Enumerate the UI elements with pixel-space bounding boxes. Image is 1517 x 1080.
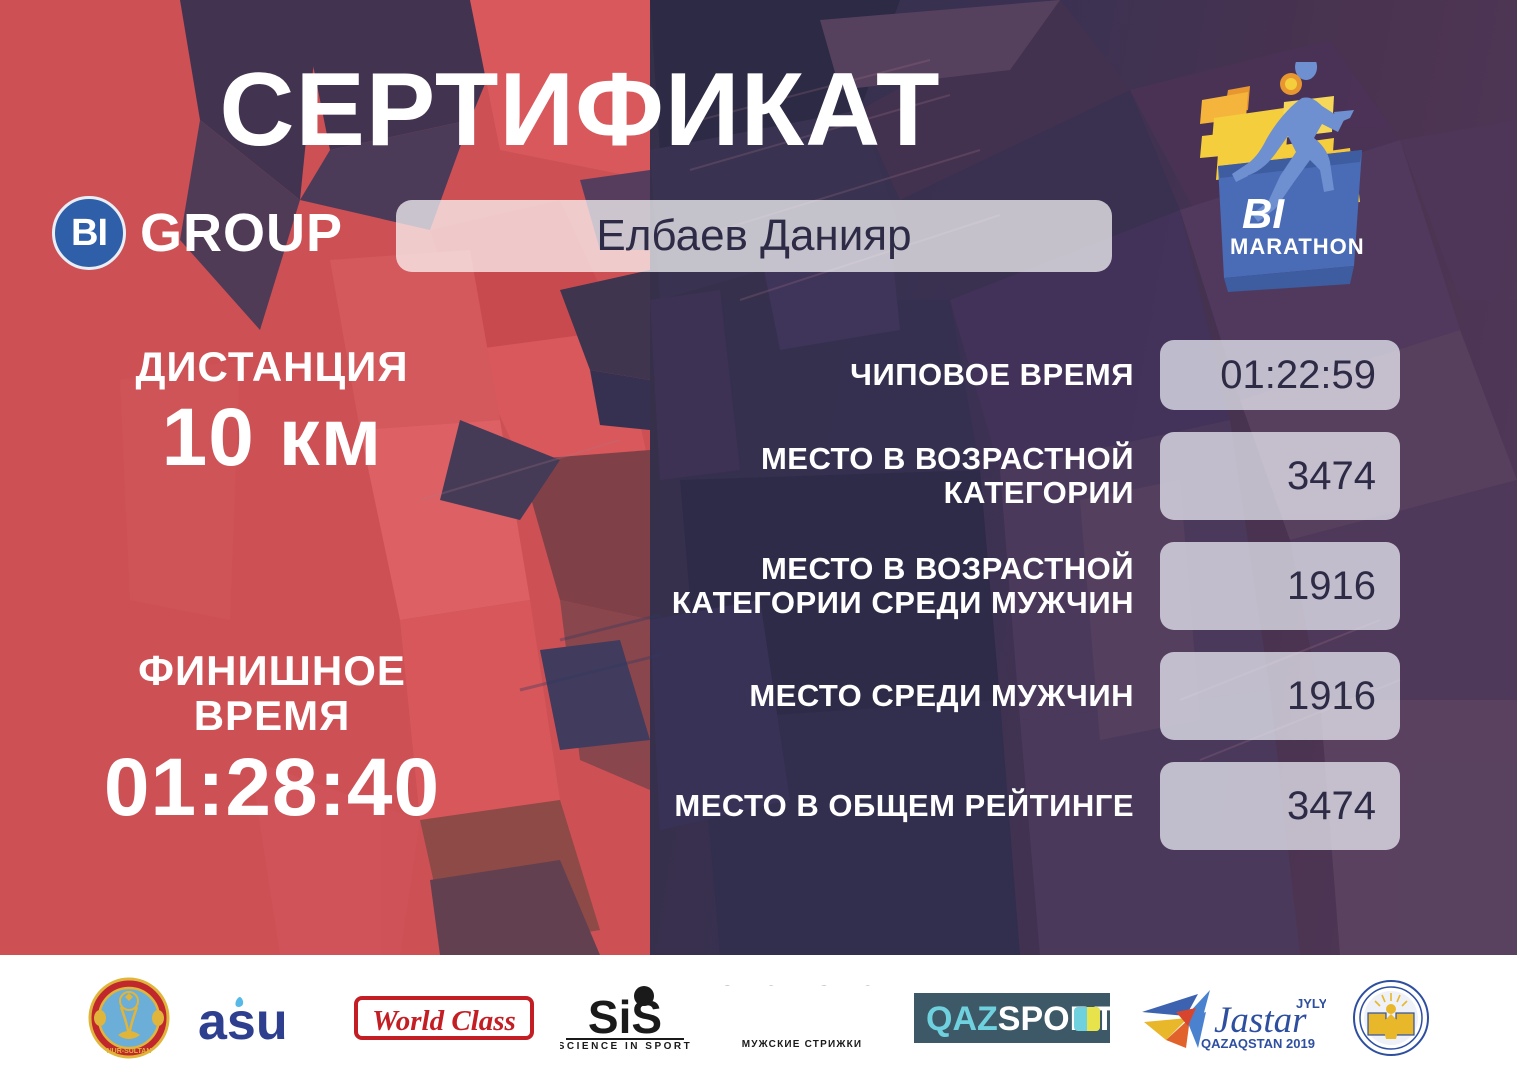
- sponsor-logo-world-class: World Class: [354, 981, 534, 1055]
- participant-name-field: Елбаев Данияр: [396, 200, 1112, 272]
- chop-chop-logo-icon: CHOP-CHOP МУЖСКИЕ СТРИЖКИ: [716, 985, 888, 1051]
- chop-chop-sublabel: МУЖСКИЕ СТРИЖКИ: [741, 1039, 862, 1050]
- asu-label: asu: [198, 993, 288, 1049]
- marathon-logo-word: MARATHON: [1230, 234, 1365, 259]
- stats-list: ЧИПОВОЕ ВРЕМЯ 01:22:59 МЕСТО В ВОЗРАСТНО…: [630, 340, 1400, 850]
- nur-sultan-emblem-icon: NUR-SULTAN: [88, 977, 170, 1059]
- sponsor-logo-sis: SiS SCIENCE IN SPORT: [560, 981, 690, 1055]
- stat-row: ЧИПОВОЕ ВРЕМЯ 01:22:59: [630, 340, 1400, 410]
- sponsor-logo-ministry: [1352, 981, 1430, 1055]
- distance-value: 10 км: [42, 395, 502, 481]
- stat-row: МЕСТО В ОБЩЕМ РЕЙТИНГЕ 3474: [630, 762, 1400, 850]
- stat-label: МЕСТО СРЕДИ МУЖЧИН: [630, 679, 1160, 713]
- stat-label: ЧИПОВОЕ ВРЕМЯ: [630, 358, 1160, 392]
- distance-label: ДИСТАНЦИЯ: [42, 344, 502, 389]
- finish-time-label-line1: ФИНИШНОЕ: [42, 648, 502, 693]
- jastar-sup: JYLY: [1296, 996, 1326, 1011]
- finish-time-value: 01:28:40: [42, 745, 502, 831]
- world-class-logo-icon: World Class: [354, 992, 534, 1044]
- finish-time-block: ФИНИШНОЕ ВРЕМЯ 01:28:40: [42, 648, 502, 831]
- bi-badge-icon: BI: [52, 196, 126, 270]
- jastar-sublabel: QAZAQSTAN 2019: [1201, 1036, 1315, 1051]
- stat-value: 1916: [1160, 542, 1400, 630]
- world-class-label: World Class: [372, 1005, 516, 1037]
- chop-chop-label: CHOP-CHOP: [716, 985, 888, 992]
- jastar-label: Jastar: [1214, 1000, 1307, 1041]
- sponsor-logo-qazsport: QAZSPORT QAZSPORT: [914, 981, 1110, 1055]
- qazsport-logo-icon: QAZSPORT QAZSPORT: [914, 993, 1110, 1043]
- sponsor-strip: NUR-SULTAN asu World Class SiS SCIENCE I…: [0, 955, 1517, 1080]
- stat-value: 01:22:59: [1160, 340, 1400, 410]
- page-title: СЕРТИФИКАТ: [0, 58, 1160, 162]
- sis-logo-icon: SiS SCIENCE IN SPORT: [560, 985, 690, 1051]
- stat-row: МЕСТО В ВОЗРАСТНОЙ КАТЕГОРИИ СРЕДИ МУЖЧИ…: [630, 542, 1400, 630]
- asu-logo-icon: asu: [196, 987, 328, 1049]
- bi-group-word: GROUP: [140, 202, 343, 264]
- sis-label: SiS: [587, 991, 661, 1043]
- bi-marathon-logo: BI MARATHON: [1184, 62, 1380, 292]
- stat-row: МЕСТО СРЕДИ МУЖЧИН 1916: [630, 652, 1400, 740]
- finish-time-label-line2: ВРЕМЯ: [42, 693, 502, 738]
- stat-label: МЕСТО В ВОЗРАСТНОЙ КАТЕГОРИИ СРЕДИ МУЖЧИ…: [630, 552, 1160, 620]
- bi-badge-label: BI: [71, 214, 107, 252]
- stat-label: МЕСТО В ОБЩЕМ РЕЙТИНГЕ: [630, 789, 1160, 823]
- stat-value: 3474: [1160, 432, 1400, 520]
- nur-sultan-label: NUR-SULTAN: [106, 1048, 151, 1055]
- jastar-logo-icon: Jastar JYLY QAZAQSTAN 2019: [1136, 982, 1326, 1054]
- marathon-logo-bi: BI: [1242, 190, 1285, 237]
- ministry-emblem-icon: [1352, 979, 1430, 1057]
- sponsor-logo-asu: asu: [196, 981, 328, 1055]
- sponsor-logo-nur-sultan: NUR-SULTAN: [88, 981, 170, 1055]
- sis-sublabel: SCIENCE IN SPORT: [560, 1041, 690, 1051]
- bi-group-logo: BI GROUP: [52, 196, 343, 270]
- sponsor-logo-jastar: Jastar JYLY QAZAQSTAN 2019: [1136, 981, 1326, 1055]
- stat-row: МЕСТО В ВОЗРАСТНОЙ КАТЕГОРИИ 3474: [630, 432, 1400, 520]
- distance-block: ДИСТАНЦИЯ 10 км: [42, 344, 502, 481]
- stat-value: 1916: [1160, 652, 1400, 740]
- participant-name: Елбаев Данияр: [596, 211, 911, 261]
- stat-value: 3474: [1160, 762, 1400, 850]
- certificate: СЕРТИФИКАТ BI GROUP Елбаев Данияр: [0, 0, 1517, 1080]
- sponsor-logo-chop-chop: CHOP-CHOP МУЖСКИЕ СТРИЖКИ: [716, 981, 888, 1055]
- stat-label: МЕСТО В ВОЗРАСТНОЙ КАТЕГОРИИ: [630, 442, 1160, 510]
